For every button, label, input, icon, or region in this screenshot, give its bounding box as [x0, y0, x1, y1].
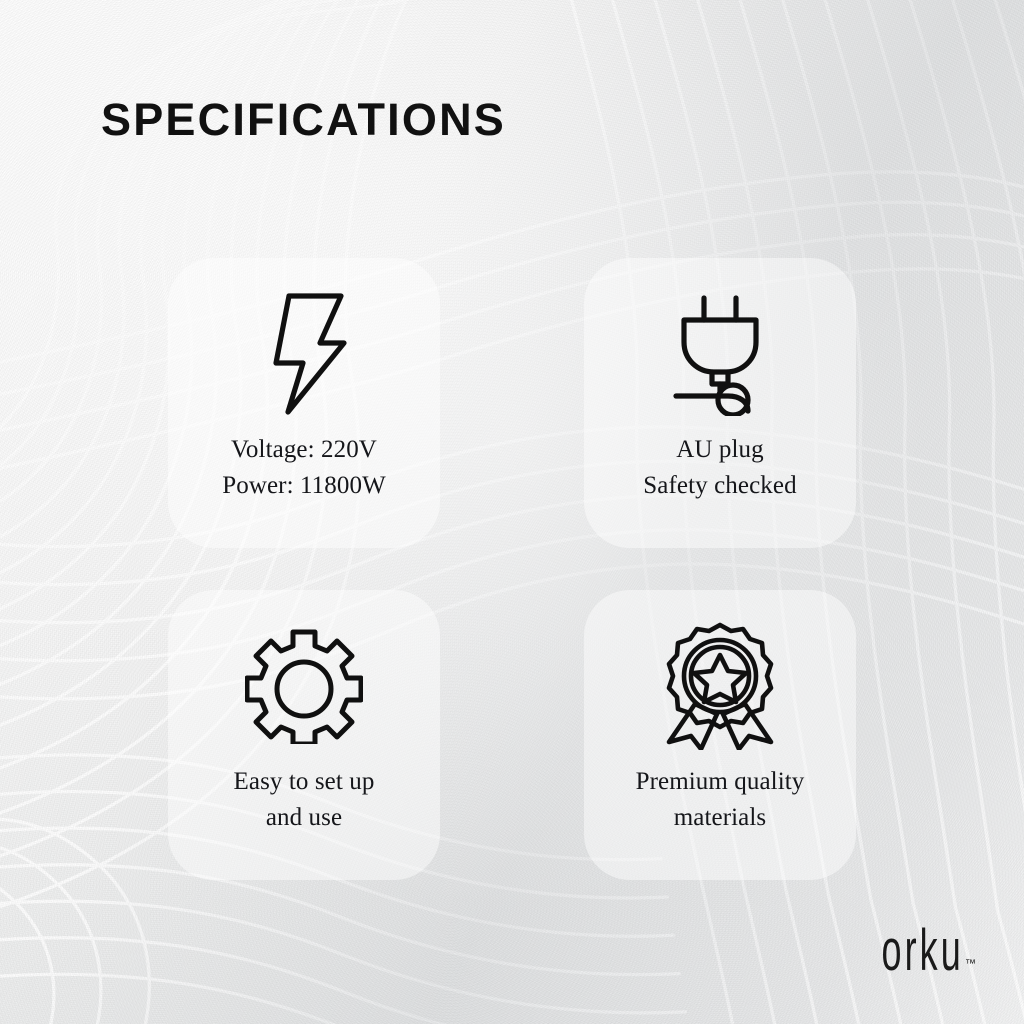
trademark-symbol: ™: [965, 958, 976, 970]
specification-card-grid: Voltage: 220V Power: 11800W AU pl: [168, 258, 856, 880]
spec-card-easy-setup: Easy to set up and use: [168, 590, 440, 880]
specifications-poster: SPECIFICATIONS Voltage: 220V Power: 1180…: [0, 0, 1024, 1024]
lightning-bolt-icon: [258, 284, 350, 424]
brand-logo-wordmark: orku: [882, 926, 964, 976]
spec-card-text: Easy to set up and use: [234, 764, 375, 836]
power-plug-icon: [666, 284, 774, 424]
spec-card-text: AU plug Safety checked: [643, 432, 796, 504]
award-ribbon-icon: [661, 616, 779, 756]
spec-card-plug-safety: AU plug Safety checked: [584, 258, 856, 548]
brand-logo: orku ™: [831, 926, 976, 976]
page-title: SPECIFICATIONS: [101, 97, 506, 142]
spec-card-voltage-power: Voltage: 220V Power: 11800W: [168, 258, 440, 548]
gear-icon: [245, 616, 363, 756]
spec-card-text: Premium quality materials: [636, 764, 805, 836]
spec-card-premium-quality: Premium quality materials: [584, 590, 856, 880]
spec-card-text: Voltage: 220V Power: 11800W: [222, 432, 386, 504]
